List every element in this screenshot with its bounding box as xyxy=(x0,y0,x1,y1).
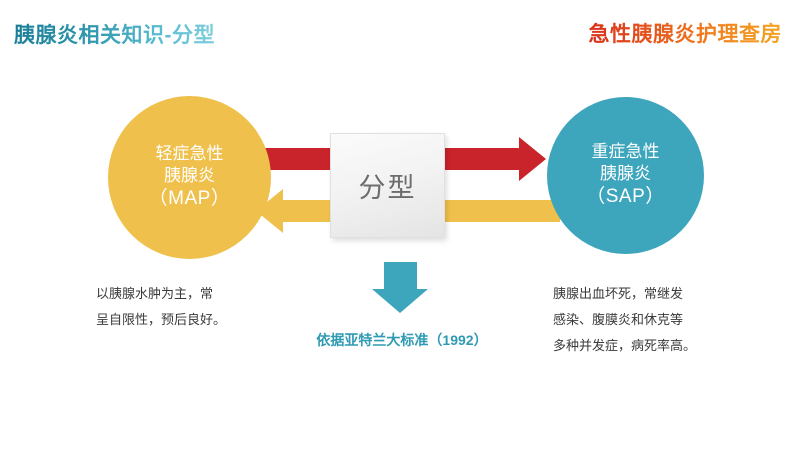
caption-severe-line2: 感染、腹膜炎和休克等 xyxy=(553,307,773,333)
caption-mild-line1: 以胰腺水肿为主，常 xyxy=(96,281,296,307)
node-mild-pancreatitis[interactable]: 轻症急性 胰腺炎 （MAP） xyxy=(108,96,271,259)
arrow-center-to-criterion-icon xyxy=(372,262,428,313)
node-classification-label: 分型 xyxy=(359,166,417,205)
node-classification[interactable]: 分型 xyxy=(330,133,445,238)
node-mild-line2: 胰腺炎 xyxy=(164,165,215,187)
node-severe-pancreatitis[interactable]: 重症急性 胰腺炎 （SAP） xyxy=(547,97,704,254)
caption-severe-line1: 胰腺出血坏死，常继发 xyxy=(553,281,773,307)
caption-mild-pancreatitis: 以胰腺水肿为主，常 呈自限性，预后良好。 xyxy=(96,281,296,333)
criterion-label: 依据亚特兰大标准（1992） xyxy=(292,330,512,350)
node-severe-line2: 胰腺炎 xyxy=(600,163,651,185)
node-severe-code: （SAP） xyxy=(586,185,665,210)
node-severe-line1: 重症急性 xyxy=(592,141,660,163)
node-mild-line1: 轻症急性 xyxy=(156,143,224,165)
caption-severe-pancreatitis: 胰腺出血坏死，常继发 感染、腹膜炎和休克等 多种并发症，病死率高。 xyxy=(553,281,773,359)
node-mild-code: （MAP） xyxy=(149,187,231,212)
caption-severe-line3: 多种并发症，病死率高。 xyxy=(553,333,773,359)
slide-canvas: { "header": { "slide_title": "胰腺炎相关知识-分型… xyxy=(0,0,800,450)
caption-mild-line2: 呈自限性，预后良好。 xyxy=(96,307,296,333)
